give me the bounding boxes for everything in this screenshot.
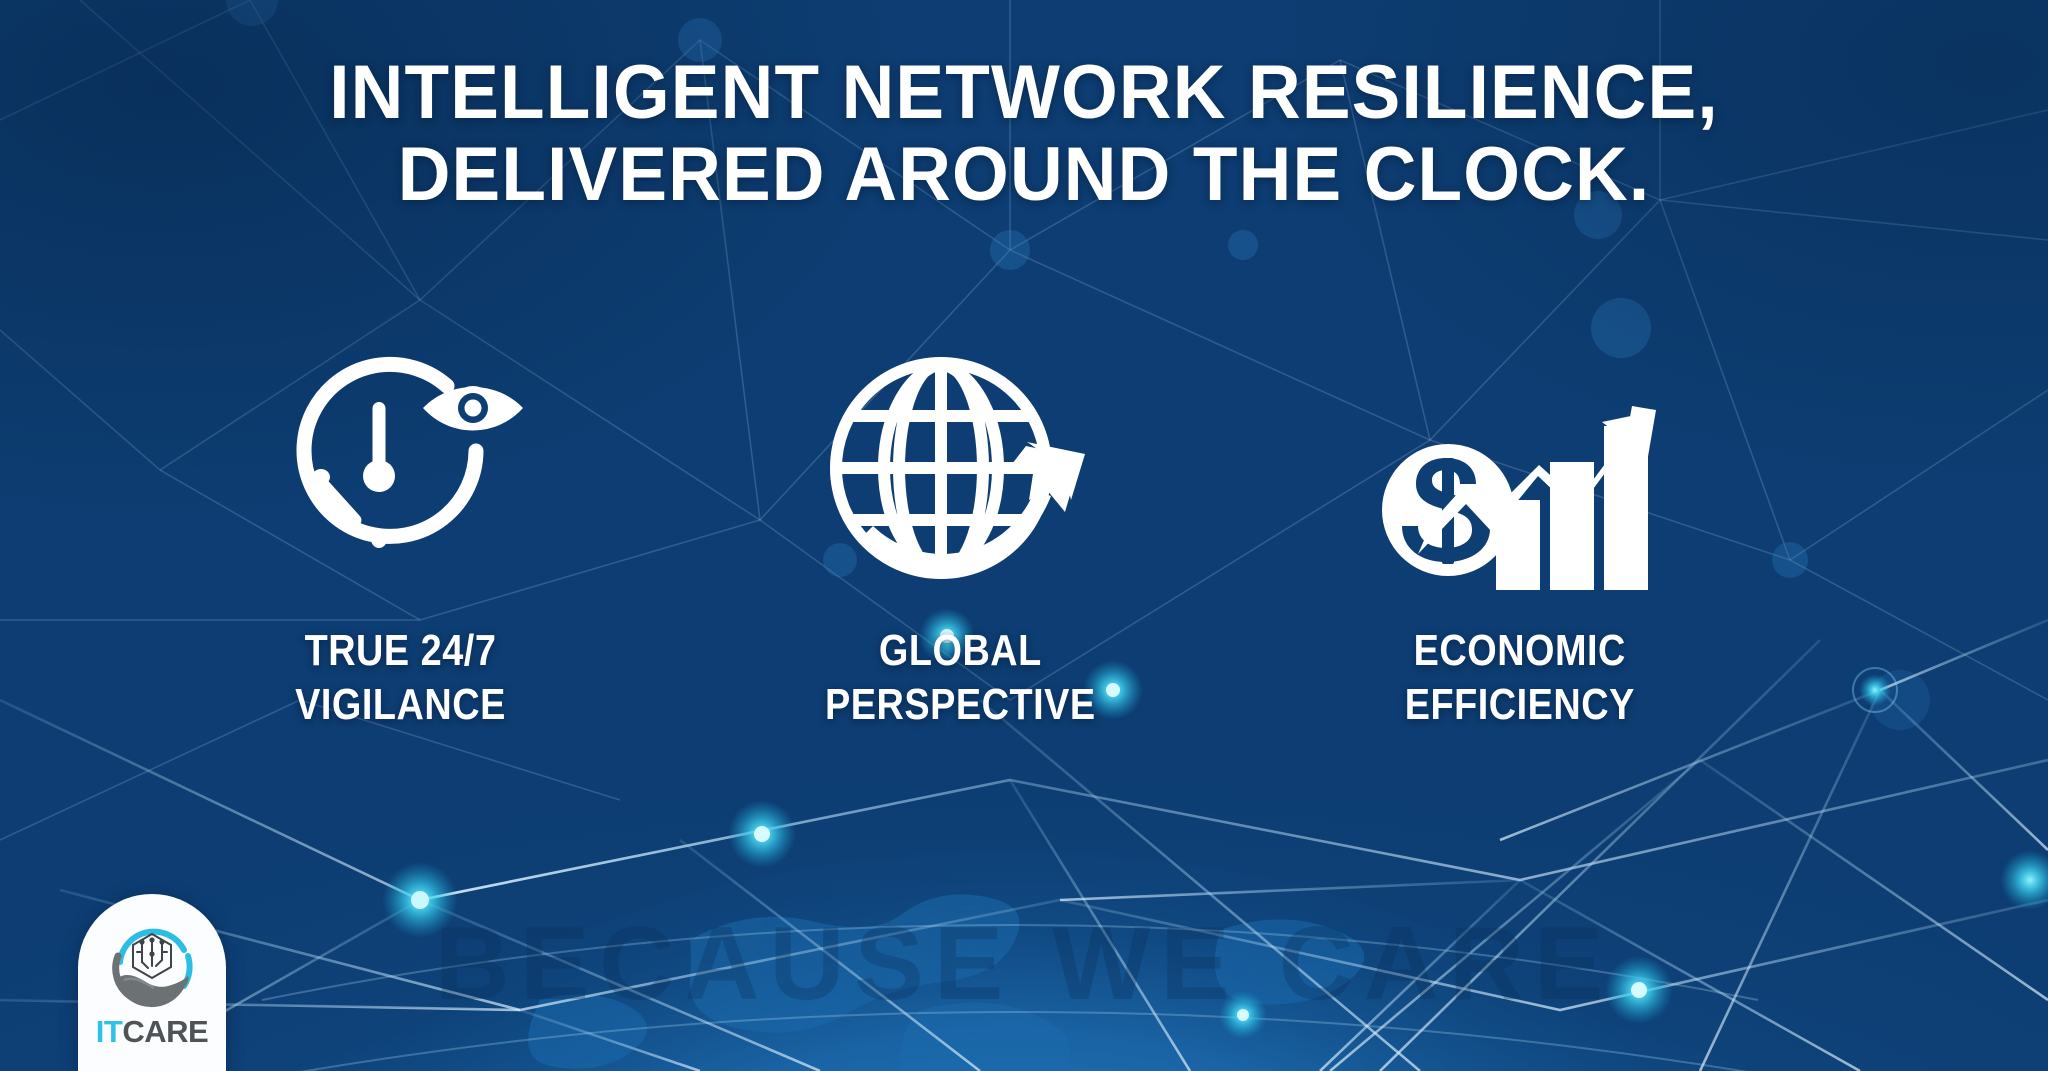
globe-sphere [250,850,1770,1071]
feature-true-24-7-vigilance: TRUE 24/7 VIGILANCE [180,350,620,731]
headline: INTELLIGENT NETWORK RESILIENCE, DELIVERE… [0,52,2048,216]
hand-holding-circuit-hexagon-icon [100,916,204,1010]
logo-wordmark: ITCARE [96,1016,208,1047]
logo-word-care: CARE [122,1014,208,1049]
itcare-logo[interactable]: ITCARE [78,894,226,1071]
feature-row: TRUE 24/7 VIGILANCE [180,350,1740,731]
clock-eye-icon [280,350,540,600]
globe-arrow-icon [829,350,1091,600]
headline-line-1: INTELLIGENT NETWORK RESILIENCE, [41,52,2007,134]
logo-word-it: IT [96,1014,123,1049]
feature-global-perspective: GLOBAL PERSPECTIVE [740,350,1180,731]
feature-label: GLOBAL PERSPECTIVE [825,624,1096,731]
headline-line-2: DELIVERED AROUND THE CLOCK. [41,134,2007,216]
feature-label: ECONOMIC EFFICIENCY [1405,624,1635,731]
dollar-bar-chart-growth-icon [1380,350,1660,600]
feature-label: TRUE 24/7 VIGILANCE [295,624,506,731]
promo-banner: BECAUSE WE CARE INTELLIGENT NETWORK RESI… [0,0,2048,1071]
feature-economic-efficiency: ECONOMIC EFFICIENCY [1300,350,1740,731]
